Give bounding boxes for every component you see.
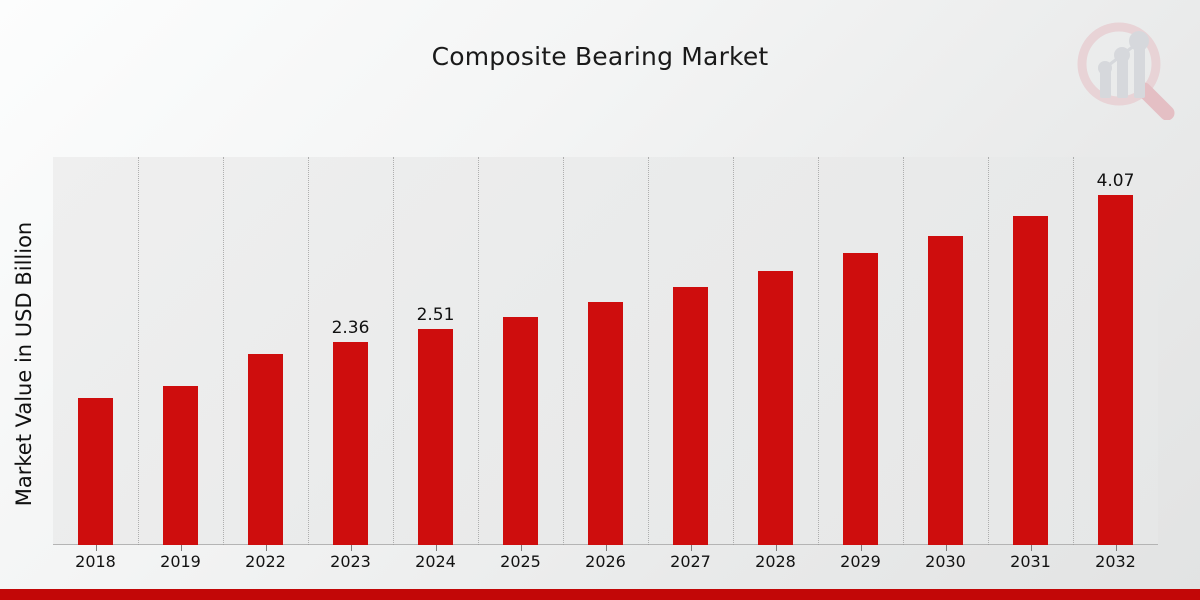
x-tick-2027 bbox=[691, 545, 692, 551]
x-tick-2032 bbox=[1116, 545, 1117, 551]
bar-2023[interactable] bbox=[333, 342, 368, 545]
x-tick-label-2031: 2031 bbox=[986, 552, 1076, 571]
bar-2025[interactable] bbox=[503, 317, 538, 545]
x-tick-2024 bbox=[436, 545, 437, 551]
x-tick-label-2026: 2026 bbox=[561, 552, 651, 571]
bar-2024[interactable] bbox=[418, 329, 453, 545]
gridline bbox=[988, 157, 990, 545]
x-tick-label-2022: 2022 bbox=[221, 552, 311, 571]
x-tick-label-2024: 2024 bbox=[391, 552, 481, 571]
x-tick-2022 bbox=[266, 545, 267, 551]
bar-2027[interactable] bbox=[673, 287, 708, 545]
x-tick-label-2032: 2032 bbox=[1071, 552, 1161, 571]
x-tick-2029 bbox=[861, 545, 862, 551]
bar-2029[interactable] bbox=[843, 253, 878, 546]
x-tick-label-2027: 2027 bbox=[646, 552, 736, 571]
gridline bbox=[478, 157, 480, 545]
x-tick-2019 bbox=[181, 545, 182, 551]
x-tick-2031 bbox=[1031, 545, 1032, 551]
gridline bbox=[223, 157, 225, 545]
gridline bbox=[648, 157, 650, 545]
gridline bbox=[1073, 157, 1075, 545]
bar-2019[interactable] bbox=[163, 386, 198, 545]
gridline bbox=[393, 157, 395, 545]
x-tick-label-2025: 2025 bbox=[476, 552, 566, 571]
x-tick-label-2018: 2018 bbox=[51, 552, 141, 571]
gridline bbox=[563, 157, 565, 545]
footer-accent-strip bbox=[0, 589, 1200, 600]
gridline bbox=[138, 157, 140, 545]
x-tick-label-2028: 2028 bbox=[731, 552, 821, 571]
y-axis-label: Market Value in USD Billion bbox=[12, 144, 36, 584]
x-tick-label-2023: 2023 bbox=[306, 552, 396, 571]
bar-2028[interactable] bbox=[758, 271, 793, 545]
plot-area bbox=[53, 157, 1158, 545]
bar-2030[interactable] bbox=[928, 236, 963, 545]
bar-2022[interactable] bbox=[248, 354, 283, 545]
bar-value-label-2024: 2.51 bbox=[396, 305, 476, 325]
gridline bbox=[308, 157, 310, 545]
x-tick-2030 bbox=[946, 545, 947, 551]
x-tick-2028 bbox=[776, 545, 777, 551]
magnifier-bar-chart-icon bbox=[1070, 18, 1176, 120]
x-tick-label-2029: 2029 bbox=[816, 552, 906, 571]
x-tick-2026 bbox=[606, 545, 607, 551]
bar-2032[interactable] bbox=[1098, 195, 1133, 545]
bar-value-label-2032: 4.07 bbox=[1076, 171, 1156, 191]
chart-figure: Composite Bearing Market Market Value in… bbox=[0, 0, 1200, 600]
gridline bbox=[818, 157, 820, 545]
gridline bbox=[903, 157, 905, 545]
bar-2018[interactable] bbox=[78, 398, 113, 545]
x-tick-2018 bbox=[96, 545, 97, 551]
x-tick-2023 bbox=[351, 545, 352, 551]
brand-logo bbox=[1070, 18, 1176, 120]
chart-title: Composite Bearing Market bbox=[0, 42, 1200, 71]
x-tick-label-2019: 2019 bbox=[136, 552, 226, 571]
bar-2031[interactable] bbox=[1013, 216, 1048, 545]
gridline bbox=[733, 157, 735, 545]
bar-value-label-2023: 2.36 bbox=[311, 318, 391, 338]
x-tick-2025 bbox=[521, 545, 522, 551]
bar-2026[interactable] bbox=[588, 302, 623, 545]
x-tick-label-2030: 2030 bbox=[901, 552, 991, 571]
